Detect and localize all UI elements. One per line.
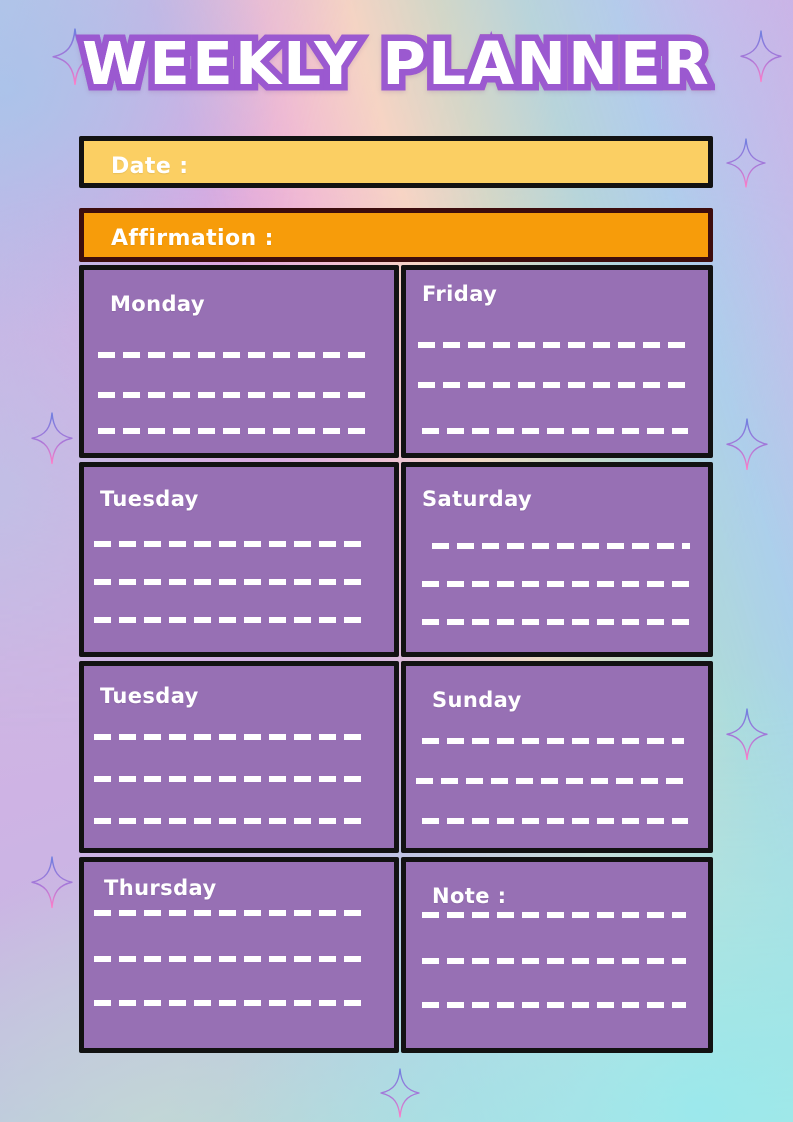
writing-line-1[interactable] xyxy=(422,738,684,744)
page-title: WEEKLY PLANNER xyxy=(82,34,711,93)
writing-line-2[interactable] xyxy=(416,778,688,784)
day-cell-label: Thursday xyxy=(104,876,217,900)
writing-line-1[interactable] xyxy=(94,541,366,547)
writing-line-2[interactable] xyxy=(422,581,690,587)
writing-line-3[interactable] xyxy=(422,428,688,434)
day-cell-friday-0[interactable]: Friday xyxy=(401,265,713,458)
writing-line-3[interactable] xyxy=(422,818,688,824)
writing-line-1[interactable] xyxy=(94,910,366,916)
day-cell-monday-0[interactable]: Monday xyxy=(79,265,399,458)
day-cell-label: Note : xyxy=(432,884,506,908)
sparkle-mid-left-icon xyxy=(31,412,73,465)
day-cell-thursday-3[interactable]: Thursday xyxy=(79,857,399,1053)
writing-line-3[interactable] xyxy=(94,617,366,623)
writing-line-2[interactable] xyxy=(94,579,366,585)
writing-line-1[interactable] xyxy=(94,734,366,740)
writing-line-3[interactable] xyxy=(98,428,370,434)
sparkle-mid-right-icon xyxy=(726,418,768,471)
day-cell-tuesday-1[interactable]: Tuesday xyxy=(79,462,399,657)
writing-line-1[interactable] xyxy=(432,543,690,549)
writing-line-3[interactable] xyxy=(422,1002,686,1008)
planner-page: WEEKLY PLANNER Date : Affirmation : Mond… xyxy=(0,0,793,1122)
day-cell-label: Friday xyxy=(422,282,497,306)
writing-line-2[interactable] xyxy=(94,776,366,782)
sparkle-lower-right-icon xyxy=(726,708,768,761)
page-title-wrap: WEEKLY PLANNER xyxy=(0,34,793,93)
writing-line-1[interactable] xyxy=(418,342,690,348)
writing-line-2[interactable] xyxy=(422,958,686,964)
writing-line-2[interactable] xyxy=(98,392,370,398)
writing-line-2[interactable] xyxy=(418,382,690,388)
writing-line-3[interactable] xyxy=(94,1000,366,1006)
day-cell-label: Tuesday xyxy=(100,487,199,511)
day-cell-saturday-1[interactable]: Saturday xyxy=(401,462,713,657)
sparkle-bottom-center-icon xyxy=(380,1068,420,1118)
affirmation-field-label: Affirmation : xyxy=(111,226,274,251)
day-cell-label: Saturday xyxy=(422,487,532,511)
affirmation-field[interactable]: Affirmation : xyxy=(79,208,713,262)
day-cell-note-3[interactable]: Note : xyxy=(401,857,713,1053)
sparkle-upper-right-icon xyxy=(726,138,766,188)
writing-line-1[interactable] xyxy=(422,912,686,918)
writing-line-1[interactable] xyxy=(98,352,370,358)
date-field-label: Date : xyxy=(111,154,188,179)
day-cell-label: Sunday xyxy=(432,688,522,712)
day-cell-label: Tuesday xyxy=(100,684,199,708)
writing-line-3[interactable] xyxy=(422,619,690,625)
writing-line-3[interactable] xyxy=(94,818,366,824)
day-cell-tuesday-2[interactable]: Tuesday xyxy=(79,661,399,853)
date-field[interactable]: Date : xyxy=(79,136,713,188)
day-cell-label: Monday xyxy=(110,292,205,316)
writing-line-2[interactable] xyxy=(94,956,366,962)
day-cell-sunday-2[interactable]: Sunday xyxy=(401,661,713,853)
sparkle-lower-left-icon xyxy=(31,856,73,909)
